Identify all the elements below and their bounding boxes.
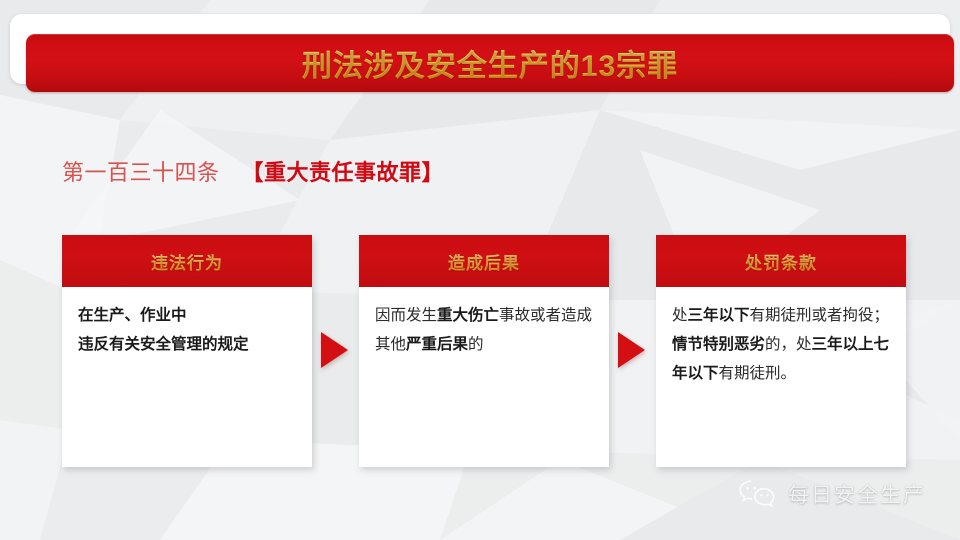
card-body-line: 在生产、作业中 — [78, 301, 298, 330]
emphasis-text: 情节特别恶劣 — [672, 336, 765, 353]
card-header-label: 违法行为 — [151, 249, 223, 274]
emphasis-text: 三年以下 — [688, 307, 750, 324]
card-header-label: 处罚条款 — [745, 249, 817, 274]
card-body-line: 情节特别恶劣的，处三年以上七年以下有期徒刑。 — [672, 330, 892, 388]
card-body-illegal-act: 在生产、作业中违反有关安全管理的规定 — [62, 287, 312, 359]
wechat-icon — [738, 478, 778, 510]
card-penalty: 处罚条款 处三年以下有期徒刑或者拘役；情节特别恶劣的，处三年以上七年以下有期徒刑… — [656, 235, 906, 467]
body-text: 因而发生 — [375, 307, 437, 324]
card-body-line: 违反有关安全管理的规定 — [78, 330, 298, 359]
body-text: 处 — [672, 307, 688, 324]
body-text: 有期徒刑或者拘役； — [750, 307, 890, 324]
page-title: 刑法涉及安全生产的13宗罪 — [302, 41, 678, 85]
crime-name: 【重大责任事故罪】 — [242, 160, 445, 185]
slide-canvas: 刑法涉及安全生产的13宗罪 第一百三十四条【重大责任事故罪】 违法行为 在生产、… — [0, 0, 960, 540]
article-number: 第一百三十四条 — [62, 160, 220, 185]
emphasis-text: 重大伤亡 — [437, 307, 499, 324]
arrow-right-icon — [618, 332, 645, 368]
card-body-line: 处三年以下有期徒刑或者拘役； — [672, 301, 892, 330]
card-body-line: 因而发生重大伤亡事故或者造成其他严重后果的 — [375, 301, 595, 359]
wechat-account-name: 每日安全生产 — [788, 479, 926, 509]
card-consequence: 造成后果 因而发生重大伤亡事故或者造成其他严重后果的 — [359, 235, 609, 467]
body-text: 有期徒刑。 — [719, 365, 797, 382]
card-illegal-act: 违法行为 在生产、作业中违反有关安全管理的规定 — [62, 235, 312, 467]
title-banner: 刑法涉及安全生产的13宗罪 — [26, 34, 954, 92]
title-frame: 刑法涉及安全生产的13宗罪 — [10, 14, 950, 84]
emphasis-text: 在生产、作业中 — [78, 307, 187, 324]
card-header: 处罚条款 — [656, 235, 906, 287]
card-row: 违法行为 在生产、作业中违反有关安全管理的规定 造成后果 因而发生重大伤亡事故或… — [0, 235, 960, 475]
wechat-watermark: 每日安全生产 — [738, 478, 926, 510]
emphasis-text: 严重后果 — [406, 336, 468, 353]
emphasis-text: 违反有关安全管理的规定 — [78, 336, 249, 353]
subtitle: 第一百三十四条【重大责任事故罪】 — [62, 158, 444, 188]
card-body-penalty: 处三年以下有期徒刑或者拘役；情节特别恶劣的，处三年以上七年以下有期徒刑。 — [656, 287, 906, 388]
card-header: 造成后果 — [359, 235, 609, 287]
body-text: 的 — [468, 336, 484, 353]
arrow-right-icon — [321, 332, 348, 368]
card-header: 违法行为 — [62, 235, 312, 287]
card-header-label: 造成后果 — [448, 249, 520, 274]
body-text: 的，处 — [765, 336, 812, 353]
card-body-consequence: 因而发生重大伤亡事故或者造成其他严重后果的 — [359, 287, 609, 359]
